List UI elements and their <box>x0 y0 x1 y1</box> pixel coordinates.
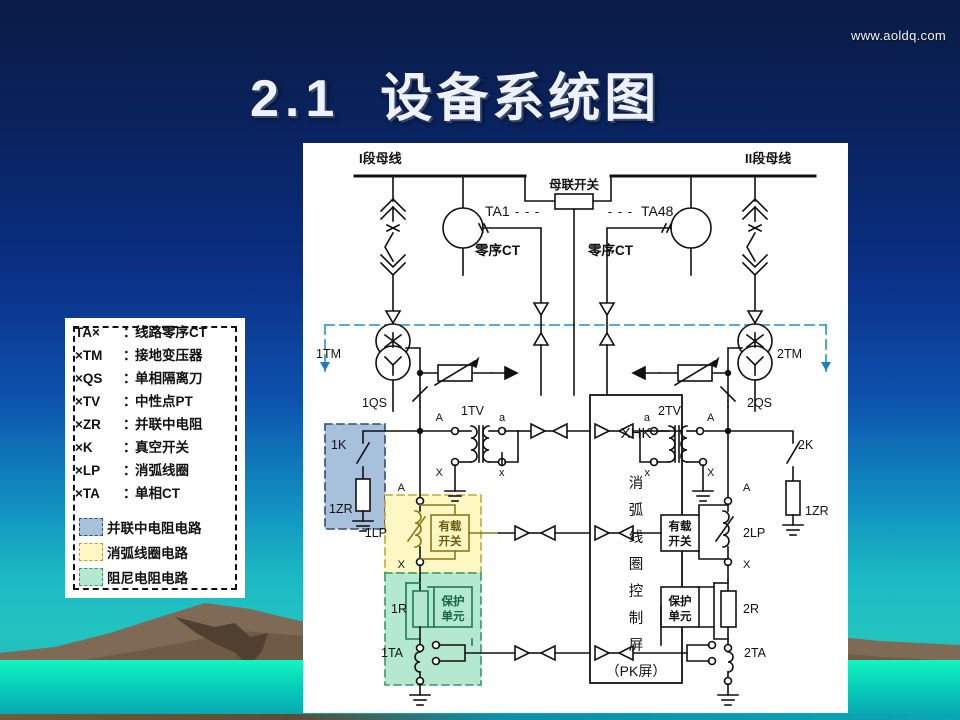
pt-2tv-terminal-a-lv: a <box>644 412 651 424</box>
damping-resistor-2r-symbol <box>714 580 736 639</box>
vacuum-switch-2k-label: 2K <box>798 438 814 452</box>
control-panel-char-1: 弧 <box>629 502 644 519</box>
signal-arrow-left-row2 <box>499 526 590 540</box>
coil-2lp-terminal-a: A <box>743 482 751 494</box>
pt-2tv-label: 2TV <box>658 404 682 418</box>
legend-swatch-row: 消弧线圈电路 <box>79 539 241 564</box>
slide-canvas: www.aoldq.com 2.1设备系统图 TA×：线路零序CT ×TM：接地… <box>0 0 960 720</box>
ct-right-label: 零序CT <box>587 242 634 258</box>
tie-switch-label: 母联开关 <box>549 177 600 192</box>
legend-code: ×TA <box>75 487 123 501</box>
legend-desc: 中性点PT <box>129 395 193 409</box>
legend-swatch-label: 阻尼电阻电路 <box>107 567 188 587</box>
pt-2tv-terminal-x-lv: x <box>645 467 651 479</box>
control-panel-char-4: 控 <box>629 583 644 600</box>
ct-left-tag-label: TA1 <box>485 203 510 219</box>
legend-code: ×LP <box>75 464 123 478</box>
legend-code: ×QS <box>75 372 123 386</box>
legend-entry: ×K：真空开关 <box>75 441 241 464</box>
isolator-2qs-symbol <box>721 373 735 434</box>
bottom-strip <box>0 714 960 720</box>
swatch-green-icon <box>79 568 103 586</box>
control-panel-char-5: 制 <box>629 610 644 627</box>
legend-box: TA×：线路零序CT ×TM：接地变压器 ×QS：单相隔离刀 ×TV：中性点PT… <box>65 318 245 598</box>
arrester-left-symbol <box>417 359 517 385</box>
signal-arrow-left-row1 <box>518 424 590 438</box>
ct-right-dots-label: - - - <box>608 204 633 219</box>
swatch-yellow-icon <box>79 543 103 561</box>
legend-entry: ×QS：单相隔离刀 <box>75 372 241 395</box>
coil-1lp-terminal-a: A <box>398 482 406 494</box>
legend-swatch-row: 阻尼电阻电路 <box>79 564 241 589</box>
legend-desc: 单相隔离刀 <box>129 372 203 386</box>
arrester-right-symbol <box>633 359 731 385</box>
coil-1lp-label: 1LP <box>365 526 387 540</box>
pt-1tv-terminal-a-lv: a <box>499 412 506 424</box>
vacuum-switch-1k-label: 1K <box>331 438 347 452</box>
pt-1tv-label: 1TV <box>461 404 485 418</box>
coil-2lp-label: 2LP <box>743 526 765 540</box>
legend-desc: 单相CT <box>129 487 180 501</box>
legend-entry-list: TA×：线路零序CT ×TM：接地变压器 ×QS：单相隔离刀 ×TV：中性点PT… <box>75 326 241 510</box>
legend-desc: 真空开关 <box>129 441 189 455</box>
diagram-panel: I段母线 II段母线 母联开关 TA1 - - - 零序CT - - - TA4… <box>303 143 848 713</box>
protect-unit-right-line2: 单元 <box>669 609 692 623</box>
dashed-arrow-left-icon <box>320 362 330 371</box>
title-text: 设备系统图 <box>380 70 660 128</box>
control-panel-char-3: 圈 <box>629 557 644 573</box>
legend-code: ×TM <box>75 349 123 363</box>
legend-desc: 消弧线圈 <box>129 464 189 478</box>
dashed-arrow-right-icon <box>821 362 831 371</box>
legend-desc: 接地变压器 <box>129 349 203 363</box>
ct-right-tag-label: TA48 <box>641 203 674 219</box>
page-title: 2.1设备系统图 <box>250 56 890 131</box>
onload-switch-right-line2: 开关 <box>669 534 692 548</box>
busbar-right-label: II段母线 <box>745 151 791 166</box>
control-panel-char-6: 屏 <box>629 638 644 654</box>
legend-code: ×K <box>75 441 123 455</box>
legend-entry: ×TA：单相CT <box>75 487 241 510</box>
legend-code: ×TV <box>75 395 123 409</box>
legend-entry: ×LP：消弧线圈 <box>75 464 241 487</box>
pt-2tv-terminal-x: X <box>707 467 715 479</box>
legend-entry: ×TV：中性点PT <box>75 395 241 418</box>
legend-entry: ×ZR：并联中电阻 <box>75 418 241 441</box>
pt-1tv-terminal-x-lv: x <box>499 467 505 479</box>
legend-swatch-label: 并联中电阻电路 <box>107 517 202 537</box>
transformer-2tm-label: 2TM <box>777 347 802 361</box>
damping-resistor-1r-label: 1R <box>391 602 407 616</box>
protect-unit-line1: 保护 <box>441 594 465 608</box>
onload-switch-right-line1: 有载 <box>669 519 692 533</box>
legend-swatch-row: 并联中电阻电路 <box>79 514 241 539</box>
resistor-1zr-left-label: 1ZR <box>329 502 353 516</box>
legend-entry: ×TM：接地变压器 <box>75 349 241 372</box>
control-panel-char-2: 线 <box>629 529 644 546</box>
isolator-1qs-label: 1QS <box>362 396 387 410</box>
damping-resistor-2r-label: 2R <box>743 602 759 616</box>
onload-switch-line2: 开关 <box>439 534 462 548</box>
transformer-1tm-label: 1TM <box>316 347 341 361</box>
ct-1ta-label: 1TA <box>381 646 404 660</box>
pt-1tv-terminal-a: A <box>436 412 444 424</box>
ct-left-dots-label: - - - <box>515 204 540 219</box>
pt-1tv-symbol <box>420 426 518 501</box>
coil-1lp-terminal-x: X <box>398 559 406 571</box>
system-diagram-svg: I段母线 II段母线 母联开关 TA1 - - - 零序CT - - - TA4… <box>303 143 848 713</box>
coil-2lp-terminal-x: X <box>743 559 751 571</box>
legend-code: TA× <box>75 326 123 340</box>
signal-arrow-left-row3 <box>465 646 590 660</box>
ct-2ta-label: 2TA <box>744 646 767 660</box>
control-panel-code: XHK <box>621 425 652 442</box>
isolator-1qs-symbol <box>413 373 427 434</box>
legend-desc: 并联中电阻 <box>129 418 203 432</box>
legend-swatch-list: 并联中电阻电路 消弧线圈电路 阻尼电阻电路 <box>79 514 241 589</box>
swatch-blue-icon <box>79 518 103 536</box>
ct-2ta-symbol <box>687 639 738 705</box>
protect-unit-right-line1: 保护 <box>668 594 692 608</box>
resistor-1zr-right-symbol <box>786 481 800 515</box>
pt-2tv-terminal-a: A <box>707 412 715 424</box>
isolator-2qs-label: 2QS <box>747 396 772 410</box>
legend-desc: 线路零序CT <box>129 326 207 340</box>
control-panel-char-0: 消 <box>629 475 644 492</box>
control-panel-subtitle: （PK屏） <box>606 663 667 679</box>
resistor-1zr-left-symbol <box>356 479 370 511</box>
title-number: 2.1 <box>250 70 340 128</box>
legend-entry: TA×：线路零序CT <box>75 326 241 349</box>
busbar-left-label: I段母线 <box>359 151 402 166</box>
pt-1tv-terminal-x: X <box>436 467 444 479</box>
watermark-url: www.aoldq.com <box>851 28 946 43</box>
legend-swatch-label: 消弧线圈电路 <box>107 542 188 562</box>
resistor-1zr-right-label: 1ZR <box>805 504 829 518</box>
legend-code: ×ZR <box>75 418 123 432</box>
ct-left-label: 零序CT <box>474 242 521 258</box>
vacuum-switch-2k-symbol <box>728 431 803 535</box>
protect-unit-line2: 单元 <box>442 609 465 623</box>
onload-switch-line1: 有载 <box>439 519 462 533</box>
